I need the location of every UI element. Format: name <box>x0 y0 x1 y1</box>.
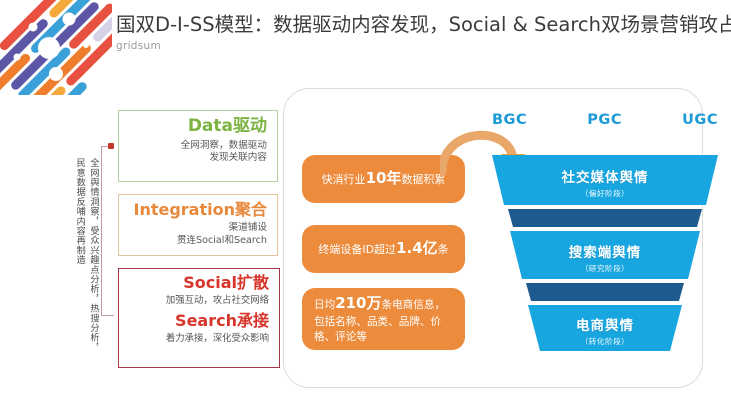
label-pgc: PGC <box>587 112 622 128</box>
pill-2-text: 终端设备ID超过1.4亿条 <box>318 238 448 259</box>
pillar-desc-integration-line2: 贯连Social和Search <box>127 235 267 248</box>
pillar-card-integration[interactable]: Integration聚合 渠道铺设 贯连Social和Search <box>118 194 278 256</box>
pill-3-number: 210万 <box>335 294 381 312</box>
pillar-desc-integration: 渠道铺设 贯连Social和Search <box>127 222 267 248</box>
gridsum-stripes-logo <box>0 0 112 95</box>
funnel-layer-ecommerce[interactable]: 电商舆情 （转化阶段） <box>492 309 718 351</box>
funnel-connector-2 <box>526 283 684 301</box>
funnel-layer-social-media[interactable]: 社交媒体舆情 （偏好阶段） <box>492 159 718 205</box>
left-bracket <box>101 146 114 316</box>
pillar-title-integration: Integration聚合 <box>127 201 267 219</box>
pillar-desc-search: 着力承接，深化受众影响 <box>127 333 269 346</box>
pill-3-pre: 日均 <box>314 299 335 311</box>
pill-1-pre: 快消行业 <box>322 173 366 186</box>
pill-1-text: 快消行业10年数据积累 <box>322 168 446 189</box>
pillar-title-social: Social扩散 <box>127 274 269 292</box>
pillar-title-data: Data驱动 <box>127 117 267 137</box>
funnel-layer-1-stage: （偏好阶段） <box>581 188 630 199</box>
funnel-layer-3-title: 电商舆情 <box>576 314 634 334</box>
pillar-desc-social: 加强互动，攻占社交网络 <box>127 295 269 308</box>
pillar-desc-data-line2: 发现关联内容 <box>127 152 267 165</box>
page-title: 国双D-I-SS模型：数据驱动内容发现，Social & Search双场景营销… <box>116 14 726 36</box>
title-area: 国双D-I-SS模型：数据驱动内容发现，Social & Search双场景营销… <box>116 14 726 52</box>
pillar-desc-integration-line1: 渠道铺设 <box>127 222 267 235</box>
pill-2-number: 1.4亿 <box>396 239 438 257</box>
pill-2-post: 条 <box>438 243 449 256</box>
data-asset-pill-device-ids[interactable]: 终端设备ID超过1.4亿条 <box>302 225 465 273</box>
label-ugc: UGC <box>682 112 718 128</box>
pillar-title-search: Search承接 <box>127 312 269 330</box>
logo-svg <box>0 0 112 95</box>
funnel-layer-3-stage: （转化阶段） <box>581 336 630 347</box>
data-asset-pill-ecommerce-records[interactable]: 日均210万条电商信息，包括名称、品类、品牌、价格、评论等 <box>302 288 465 350</box>
pill-1-number: 10年 <box>366 169 402 187</box>
pill-2-pre: 终端设备ID超过 <box>318 243 396 256</box>
pillar-desc-data: 全网洞察，数据驱动 发现关联内容 <box>127 140 267 166</box>
pill-3-text: 日均210万条电商信息，包括名称、品类、品牌、价格、评论等 <box>314 293 453 344</box>
brand-name: gridsum <box>116 40 726 52</box>
pillar-desc-data-line1: 全网洞察，数据驱动 <box>127 140 267 153</box>
pillar-card-data[interactable]: Data驱动 全网洞察，数据驱动 发现关联内容 <box>118 110 278 182</box>
vertical-caption: 全网舆情洞察，受众兴趣点分析，热搜分析，民意数据反哺内容再制造 <box>54 158 100 358</box>
funnel-content-type-labels: BGC PGC UGC <box>492 112 718 128</box>
funnel-layer-2-stage: （研究阶段） <box>581 263 630 274</box>
slide-canvas: 国双D-I-SS模型：数据驱动内容发现，Social & Search双场景营销… <box>0 0 731 400</box>
funnel-connector-1 <box>508 209 702 227</box>
funnel-layer-2-title: 搜索端舆情 <box>569 241 642 261</box>
label-bgc: BGC <box>492 112 527 128</box>
opinion-funnel: 社交媒体舆情 （偏好阶段） 搜索端舆情 （研究阶段） 电商舆情 （转化阶段） <box>492 155 718 355</box>
pillar-card-social-search[interactable]: Social扩散 加强互动，攻占社交网络 Search承接 着力承接，深化受众影… <box>118 268 280 368</box>
funnel-layer-1-title: 社交媒体舆情 <box>562 166 649 186</box>
pill-1-post: 数据积累 <box>401 173 445 186</box>
bracket-node-marker <box>108 143 114 149</box>
funnel-layer-search-side[interactable]: 搜索端舆情 （研究阶段） <box>492 235 718 279</box>
